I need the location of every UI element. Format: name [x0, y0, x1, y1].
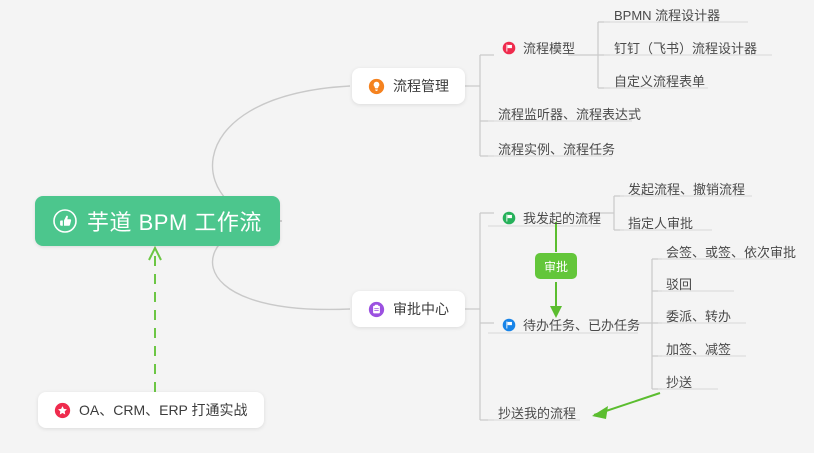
node-start-cancel-process[interactable]: 发起流程、撤销流程: [620, 175, 753, 199]
thumbs-up-icon: [53, 209, 77, 233]
node-label: 流程实例、流程任务: [498, 143, 615, 156]
node-todo-done-tasks[interactable]: 待办任务、已办任务: [494, 311, 648, 335]
flag-icon: [502, 41, 516, 55]
dashed-arrow-head-up: [149, 248, 161, 260]
flag-icon: [502, 211, 516, 225]
branch-label: 审批中心: [393, 299, 449, 319]
root-label: 芋道 BPM 工作流: [87, 205, 262, 237]
node-label: 自定义流程表单: [614, 75, 705, 88]
node-cc-to-me-process[interactable]: 抄送我的流程: [490, 399, 584, 423]
node-label: 抄送: [666, 376, 692, 389]
tag-label: 审批: [544, 258, 568, 275]
node-process-listener-expression[interactable]: 流程监听器、流程表达式: [490, 100, 649, 124]
node-designated-approver[interactable]: 指定人审批: [620, 209, 701, 233]
lightbulb-icon: [368, 78, 385, 95]
node-dingtalk-feishu-designer[interactable]: 钉钉（飞书）流程设计器: [606, 34, 765, 58]
mindmap-canvas: 芋道 BPM 工作流 流程管理 流程模型 BPMN 流程设计器 钉钉（飞书）流程…: [0, 0, 814, 453]
node-label: 流程监听器、流程表达式: [498, 108, 641, 121]
node-label: 委派、转办: [666, 310, 731, 323]
node-label: 指定人审批: [628, 217, 693, 230]
node-label: 钉钉（飞书）流程设计器: [614, 42, 757, 55]
branch-approval-center[interactable]: 审批中心: [352, 291, 465, 327]
green-arrow-cc-to-process: [594, 393, 660, 415]
flag-icon: [502, 318, 516, 332]
node-my-initiated-process[interactable]: 我发起的流程: [494, 204, 609, 228]
node-label: 流程模型: [523, 42, 575, 55]
floating-node-oa-crm-erp[interactable]: OA、CRM、ERP 打通实战: [38, 392, 264, 428]
node-label: 待办任务、已办任务: [523, 319, 640, 332]
clipboard-icon: [368, 301, 385, 318]
node-process-model[interactable]: 流程模型: [494, 34, 583, 58]
node-countersign-orsign-sequential[interactable]: 会签、或签、依次审批: [658, 238, 804, 262]
node-label: 我发起的流程: [523, 212, 601, 225]
branch-label: 流程管理: [393, 76, 449, 96]
root-node[interactable]: 芋道 BPM 工作流: [35, 196, 280, 246]
node-label: 会签、或签、依次审批: [666, 246, 796, 259]
star-icon: [54, 402, 71, 419]
node-cc[interactable]: 抄送: [658, 368, 700, 392]
floating-node-label: OA、CRM、ERP 打通实战: [79, 400, 248, 420]
branch-process-management[interactable]: 流程管理: [352, 68, 465, 104]
node-label: 抄送我的流程: [498, 407, 576, 420]
node-delegate-transfer[interactable]: 委派、转办: [658, 302, 739, 326]
approval-tag[interactable]: 审批: [535, 253, 577, 279]
green-arrow-head-left: [592, 406, 608, 419]
node-label: 加签、减签: [666, 343, 731, 356]
node-label: BPMN 流程设计器: [614, 9, 720, 22]
node-process-instance-task[interactable]: 流程实例、流程任务: [490, 135, 623, 159]
node-label: 驳回: [666, 278, 692, 291]
node-reject[interactable]: 驳回: [658, 270, 700, 294]
node-custom-process-form[interactable]: 自定义流程表单: [606, 67, 713, 91]
node-bpmn-designer[interactable]: BPMN 流程设计器: [606, 1, 728, 25]
node-label: 发起流程、撤销流程: [628, 183, 745, 196]
node-add-remove-sign[interactable]: 加签、减签: [658, 335, 739, 359]
